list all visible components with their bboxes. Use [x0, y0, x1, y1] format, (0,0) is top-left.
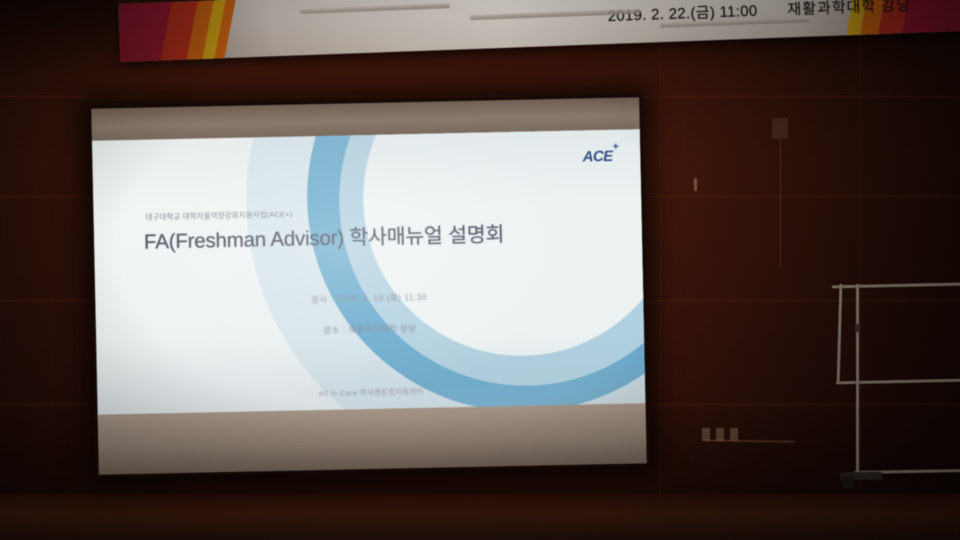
rack-clip [855, 324, 860, 332]
rack-bar-top [832, 283, 960, 289]
wall-seam-vertical [660, 0, 661, 540]
rack-post-right [856, 284, 859, 474]
wall-speaker-box [772, 118, 788, 139]
banner-place-text: 재활과학대학 강당 [787, 0, 911, 19]
banner-text: 2019. 2. 22.(금) 11:00 재활과학대학 강당 [118, 0, 960, 62]
slide-title: FA(Freshman Advisor) 학사매뉴얼 설명회 [144, 217, 505, 255]
rack-caster [842, 476, 854, 488]
metal-garment-rack [826, 276, 960, 526]
slide-subtitle: 대구대학교 대학자율역량강화지원사업(ACE+) [145, 209, 292, 223]
photo-scene: 2019. 2. 22.(금) 11:00 재활과학대학 강당 ACE+ [0, 0, 960, 540]
slide-content: ACE+ 대구대학교 대학자율역량강화지원사업(ACE+) FA(Freshma… [92, 129, 646, 420]
ace-logo-text: ACE [582, 148, 612, 166]
rack-post-left [837, 284, 843, 384]
projection-screen: ACE+ 대구대학교 대학자율역량강화지원사업(ACE+) FA(Freshma… [88, 94, 650, 478]
hanging-cable [780, 139, 781, 267]
ace-logo-plus: + [612, 140, 618, 152]
wall-hook [694, 178, 697, 191]
slide-place-line: 장소 : 재활과학대학 강당 [96, 317, 644, 340]
ace-plus-logo: ACE+ [582, 146, 618, 166]
screen-surface: ACE+ 대구대학교 대학자율역량강화지원사업(ACE+) FA(Freshma… [91, 97, 647, 474]
rack-bar-middle [836, 379, 960, 385]
floor [0, 494, 960, 540]
slide-datetime-line: 일시 : 2019. 2. 19.(화) 11:30 [95, 286, 643, 309]
projected-slide: ACE+ 대구대학교 대학자율역량강화지원사업(ACE+) FA(Freshma… [92, 129, 646, 420]
screen-band-bottom [98, 403, 647, 474]
slide-footer: All in Care 학사멘토링지원센터 [97, 382, 645, 403]
